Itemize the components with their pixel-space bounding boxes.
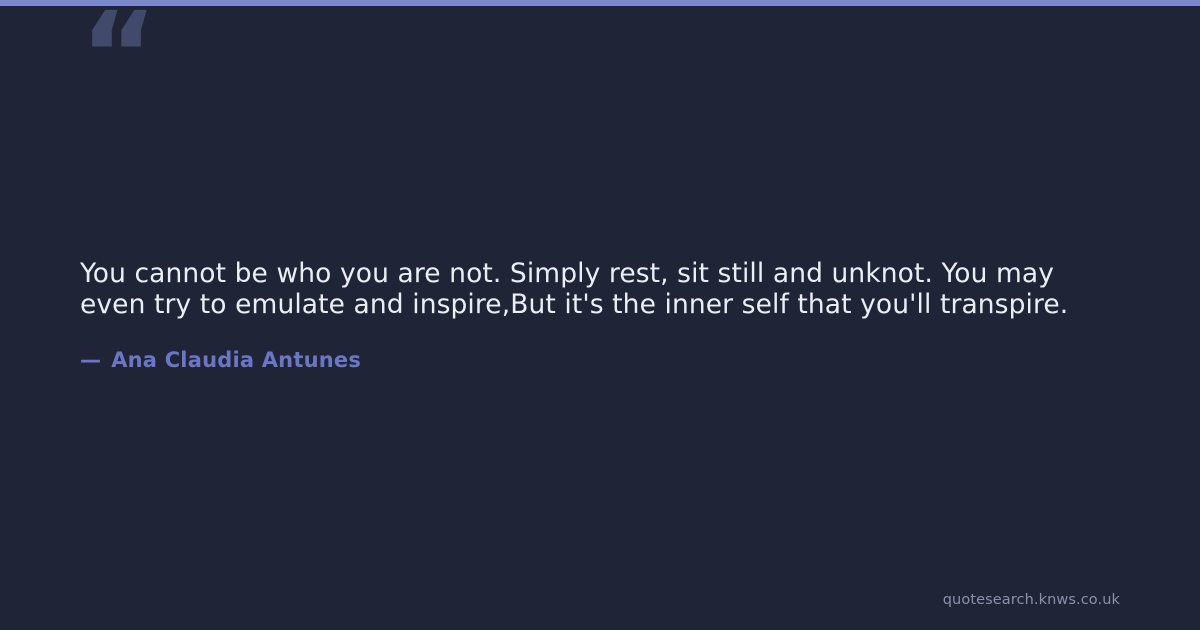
quote-attribution: — Ana Claudia Antunes	[80, 348, 1120, 372]
quote-content: You cannot be who you are not. Simply re…	[80, 0, 1120, 630]
site-watermark: quotesearch.knws.co.uk	[943, 592, 1120, 608]
em-dash: —	[80, 348, 101, 372]
quote-card: “ You cannot be who you are not. Simply …	[0, 0, 1200, 630]
quote-text: You cannot be who you are not. Simply re…	[80, 258, 1080, 320]
author-name: Ana Claudia Antunes	[111, 348, 361, 372]
